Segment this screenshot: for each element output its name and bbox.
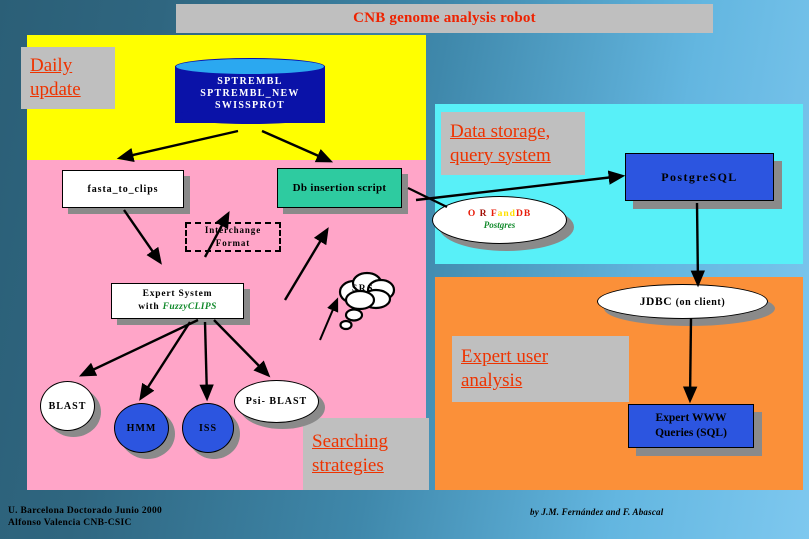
expert-system-label: Expert System with FuzzyCLIPS [138, 288, 217, 314]
caption-daily-line1: Daily [30, 54, 72, 78]
cylinder-top [175, 58, 325, 75]
caption-expert-line1: Expert user [461, 345, 548, 369]
node-psi-blast[interactable]: Psi- BLAST [234, 380, 319, 423]
db-insertion-script-label: Db insertion script [293, 182, 387, 194]
slide-title-bar: CNB genome analysis robot [176, 4, 713, 33]
jdbc-text: JDBC [640, 296, 672, 308]
postgresql-label: PostgreSQL [661, 170, 737, 185]
caption-daily-line2: update [30, 78, 81, 102]
expert-system-engine: FuzzyCLIPS [163, 302, 217, 312]
srs-label: SRS [334, 284, 392, 294]
node-fasta-to-clips[interactable]: fasta_to_clips [62, 170, 184, 208]
orf-part-and: and [498, 209, 516, 219]
iss-label: ISS [199, 423, 217, 434]
caption-search-line2: strategies [312, 454, 384, 478]
cylinder-label-1: SPTREMBL [175, 76, 325, 88]
node-iss[interactable]: ISS [182, 403, 234, 453]
fasta-to-clips-label: fasta_to_clips [88, 184, 159, 195]
orf-part-db: DB [516, 209, 531, 219]
cylinder-label-2: SPTREMBL_NEW [175, 88, 325, 100]
node-hmm[interactable]: HMM [114, 403, 169, 453]
caption-search-line1: Searching [312, 430, 388, 454]
slide-canvas: CNB genome analysis robot [0, 0, 809, 539]
expert-www-line1: Expert WWW [655, 412, 726, 424]
footer-left-line2: Alfonso Valencia CNB-CSIC [8, 517, 162, 529]
footer-right: by J.M. Fernández and F. Abascal [530, 507, 663, 517]
node-jdbc[interactable]: JDBC (on client) [597, 284, 768, 319]
caption-daily-update: Daily update [21, 47, 115, 109]
node-db-insertion-script[interactable]: Db insertion script [277, 168, 402, 208]
expert-system-with: with [138, 302, 159, 312]
caption-storage-line2: query system [450, 144, 551, 168]
srs-cloud: SRS [334, 270, 404, 332]
jdbc-note: (on client) [676, 297, 726, 308]
hmm-label: HMM [127, 423, 157, 434]
cylinder-labels: SPTREMBL SPTREMBL_NEW SWISSPROT [175, 76, 325, 112]
psi-blast-label: Psi- BLAST [246, 396, 307, 407]
node-blast[interactable]: BLAST [40, 381, 95, 431]
caption-storage-line1: Data storage, [450, 120, 550, 144]
node-orf-and-db[interactable]: O R FandDB Postgres [432, 196, 567, 244]
footer-left-line1: U. Barcelona Doctorado Junio 2000 [8, 505, 162, 517]
expert-www-line2: Queries (SQL) [655, 427, 727, 439]
orf-part-r: R [476, 209, 487, 219]
interchange-line1: Interchange [205, 225, 261, 235]
cylinder-label-3: SWISSPROT [175, 100, 325, 112]
caption-searching-strategies: Searching strategies [303, 418, 429, 490]
orf-part-o: O [468, 209, 476, 219]
interchange-line2: Format [216, 238, 250, 248]
node-interchange-format[interactable]: Interchange Format [185, 222, 281, 252]
expert-www-label: Expert WWW Queries (SQL) [655, 411, 727, 441]
page-title: CNB genome analysis robot [353, 10, 536, 27]
node-postgresql[interactable]: PostgreSQL [625, 153, 774, 201]
footer-left: U. Barcelona Doctorado Junio 2000 Alfons… [8, 505, 162, 529]
interchange-format-label: Interchange Format [205, 224, 261, 250]
caption-expert-user-analysis: Expert user analysis [452, 336, 629, 402]
jdbc-label: JDBC (on client) [640, 296, 726, 308]
node-expert-www-queries[interactable]: Expert WWW Queries (SQL) [628, 404, 754, 448]
expert-system-title: Expert System [143, 289, 213, 299]
source-databases-cylinder: SPTREMBL SPTREMBL_NEW SWISSPROT [175, 58, 325, 130]
orf-and-db-label: O R FandDB [468, 209, 531, 220]
orf-part-f: F [487, 209, 497, 219]
blast-label: BLAST [49, 401, 87, 412]
node-expert-system[interactable]: Expert System with FuzzyCLIPS [111, 283, 244, 319]
orf-and-db-subtitle: Postgres [484, 220, 516, 231]
caption-expert-line2: analysis [461, 369, 522, 393]
caption-data-storage: Data storage, query system [441, 112, 585, 175]
